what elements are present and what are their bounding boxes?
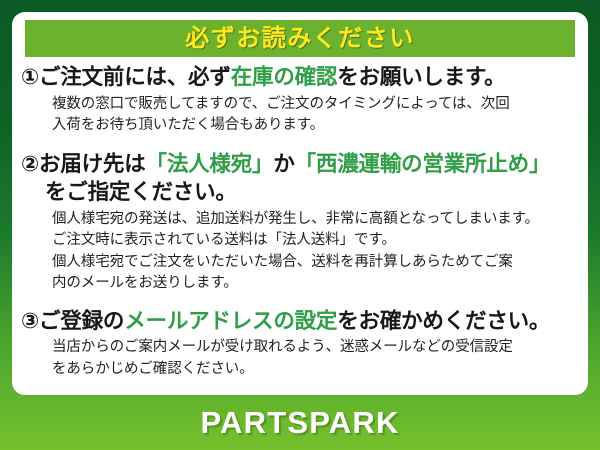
notice-item-1-number: ① bbox=[21, 65, 39, 89]
page-title: 必ずお読みください bbox=[185, 27, 415, 51]
notice-item-2-head-middle: か bbox=[273, 152, 294, 176]
notice-item-1-head-after: をお願いします。 bbox=[337, 65, 505, 89]
notice-item-3-head-after: をお確かめください。 bbox=[337, 309, 550, 333]
notice-list: ①ご注文前には、必ず在庫の確認をお願いします。 複数の窓口で販売してますので、ご… bbox=[12, 64, 588, 383]
notice-item-3-number: ③ bbox=[21, 309, 39, 333]
notice-item-1-detail: 複数の窓口で販売してますので、ご注文のタイミングによっては、次回 入荷をお待ち頂… bbox=[21, 94, 578, 137]
notice-card: 必ずお読みください ①ご注文前には、必ず在庫の確認をお願いします。 複数の窓口で… bbox=[12, 12, 588, 395]
notice-item-2-detail: 個人様宅宛の発送は、追加送料が発生し、非常に高額となってしまいます。 ご注文時に… bbox=[21, 209, 578, 295]
notice-item-1-head-before: ご注文前には、必ず bbox=[39, 65, 231, 89]
notice-item-2: ②お届け先は「法人様宛」か「西濃運輸の営業所止め」 をご指定ください。 個人様宅… bbox=[21, 151, 578, 295]
notice-item-2-detail-line-2: ご注文時に表示されている送料は「法人送料」です。 bbox=[52, 230, 578, 251]
notice-item-1-detail-line-2: 入荷をお待ち頂いただく場合もあります。 bbox=[52, 115, 578, 136]
notice-item-3-heading: ③ご登録のメールアドレスの設定をお確かめください。 bbox=[21, 308, 578, 336]
notice-item-1-detail-line-1: 複数の窓口で販売してますので、ご注文のタイミングによっては、次回 bbox=[52, 94, 578, 115]
notice-item-2-detail-line-3: 個人様宅宛でご注文をいただいた場合、送料を再計算しあらためてご案 bbox=[52, 252, 578, 273]
notice-item-2-head-before: お届け先は bbox=[39, 152, 146, 176]
brand-logo-text: PARTSPARK bbox=[200, 407, 399, 438]
notice-item-3-detail-line-1: 当店からのご案内メールが受け取れるよう、迷惑メールなどの受信設定 bbox=[52, 337, 578, 358]
notice-item-2-number: ② bbox=[21, 152, 39, 176]
notice-item-2-heading: ②お届け先は「法人様宛」か「西濃運輸の営業所止め」 bbox=[21, 151, 578, 179]
notice-item-2-head-highlight: 「法人様宛」 bbox=[146, 152, 274, 176]
notice-item-1-heading: ①ご注文前には、必ず在庫の確認をお願いします。 bbox=[21, 64, 578, 92]
notice-item-2-head-highlight-2: 「西濃運輸の営業所止め」 bbox=[295, 152, 551, 176]
notice-item-3: ③ご登録のメールアドレスの設定をお確かめください。 当店からのご案内メールが受け… bbox=[21, 308, 578, 381]
notice-item-3-head-before: ご登録の bbox=[39, 309, 124, 333]
title-bar: 必ずお読みください bbox=[25, 20, 575, 57]
notice-item-3-head-highlight: メールアドレスの設定 bbox=[124, 309, 337, 333]
notice-item-3-detail: 当店からのご案内メールが受け取れるよう、迷惑メールなどの受信設定 をあらかじめご… bbox=[21, 337, 578, 380]
footer-brand-bar: PARTSPARK bbox=[0, 395, 600, 450]
notice-item-2-detail-line-4: 内のメールをお送りします。 bbox=[52, 273, 578, 294]
notice-item-2-heading-continued: をご指定ください。 bbox=[21, 179, 578, 207]
notice-item-1-head-highlight: 在庫の確認 bbox=[231, 65, 338, 89]
notice-item-1: ①ご注文前には、必ず在庫の確認をお願いします。 複数の窓口で販売してますので、ご… bbox=[21, 64, 578, 137]
notice-item-2-detail-line-1: 個人様宅宛の発送は、追加送料が発生し、非常に高額となってしまいます。 bbox=[52, 209, 578, 230]
notice-banner: 必ずお読みください ①ご注文前には、必ず在庫の確認をお願いします。 複数の窓口で… bbox=[0, 0, 600, 450]
notice-item-3-detail-line-2: をあらかじめご確認ください。 bbox=[52, 359, 578, 380]
